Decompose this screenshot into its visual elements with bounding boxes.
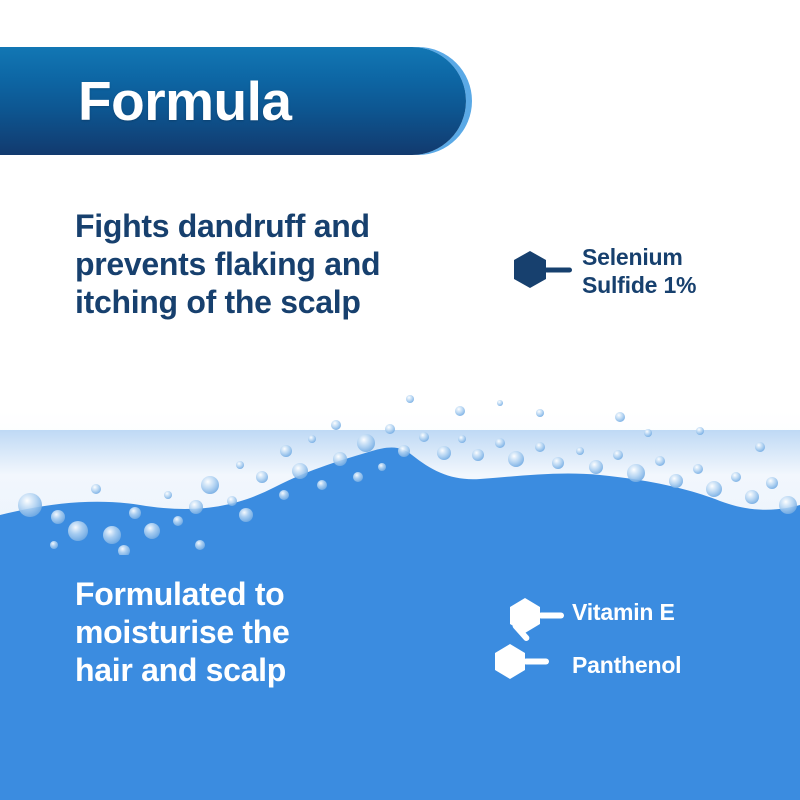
foam-bubble-band — [0, 355, 800, 555]
double-hexagon-molecule-icon — [490, 596, 568, 682]
top-claim-line-1: Fights dandruff and — [75, 207, 475, 245]
ingredient-labels-vitamins: Vitamin E Panthenol — [572, 601, 681, 677]
top-claim-text: Fights dandruff and prevents flaking and… — [75, 207, 475, 321]
top-claim-line-3: itching of the scalp — [75, 283, 475, 321]
page-title: Formula — [78, 74, 291, 129]
bottom-claim-line-1: Formulated to — [75, 575, 435, 613]
ingredient-label-line-1: Selenium — [582, 243, 696, 271]
foam-illustration — [0, 355, 800, 555]
ingredient-label-panthenol: Panthenol — [572, 654, 681, 677]
bottom-claim-line-2: moisturise the — [75, 613, 435, 651]
bottom-claim-text: Formulated to moisturise the hair and sc… — [75, 575, 435, 689]
header-banner: Formula — [0, 47, 466, 155]
ingredient-label-vitamin-e: Vitamin E — [572, 601, 681, 624]
hexagon-molecule-icon — [508, 248, 576, 294]
ingredient-callout-selenium: Selenium Sulfide 1% — [508, 243, 696, 299]
formula-infographic: Formula Fights dandruff and prevents fla… — [0, 0, 800, 800]
bottom-claim-line-3: hair and scalp — [75, 651, 435, 689]
ingredient-label-line-2: Sulfide 1% — [582, 271, 696, 299]
top-claim-line-2: prevents flaking and — [75, 245, 475, 283]
ingredient-callout-vitamins: Vitamin E Panthenol — [490, 596, 681, 682]
ingredient-labels-selenium: Selenium Sulfide 1% — [582, 243, 696, 299]
